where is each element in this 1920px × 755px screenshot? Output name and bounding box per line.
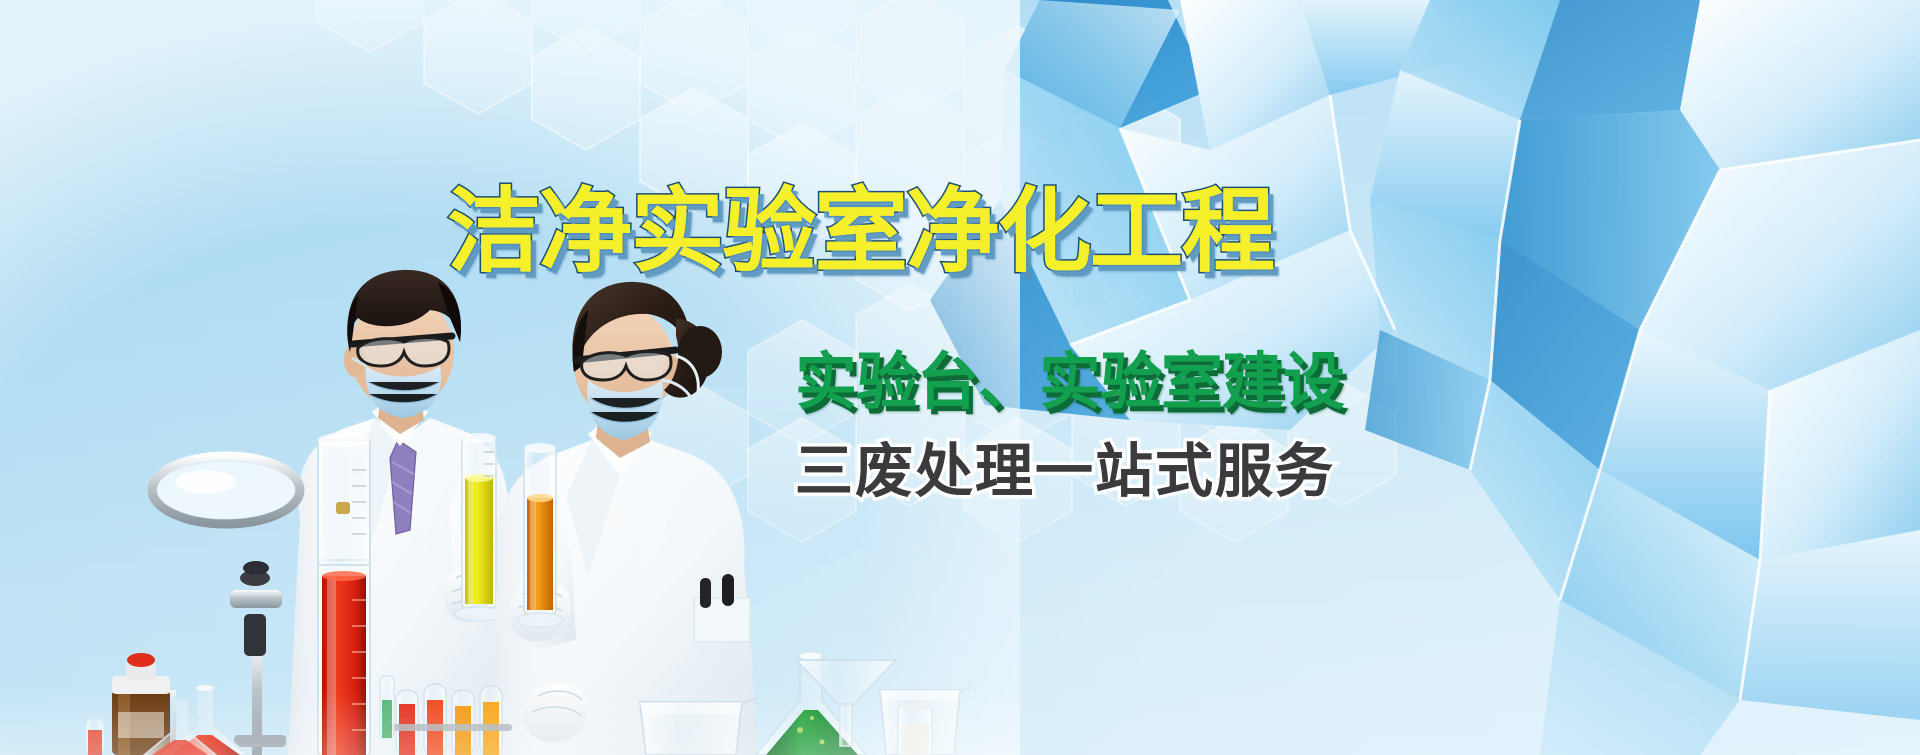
promotional-banner: 洁净实验室净化工程 实验台、实验室建设 三废处理一站式服务 三废处理一站式服务 [0,0,1920,755]
two-lab-scientists-photo [0,0,1920,755]
